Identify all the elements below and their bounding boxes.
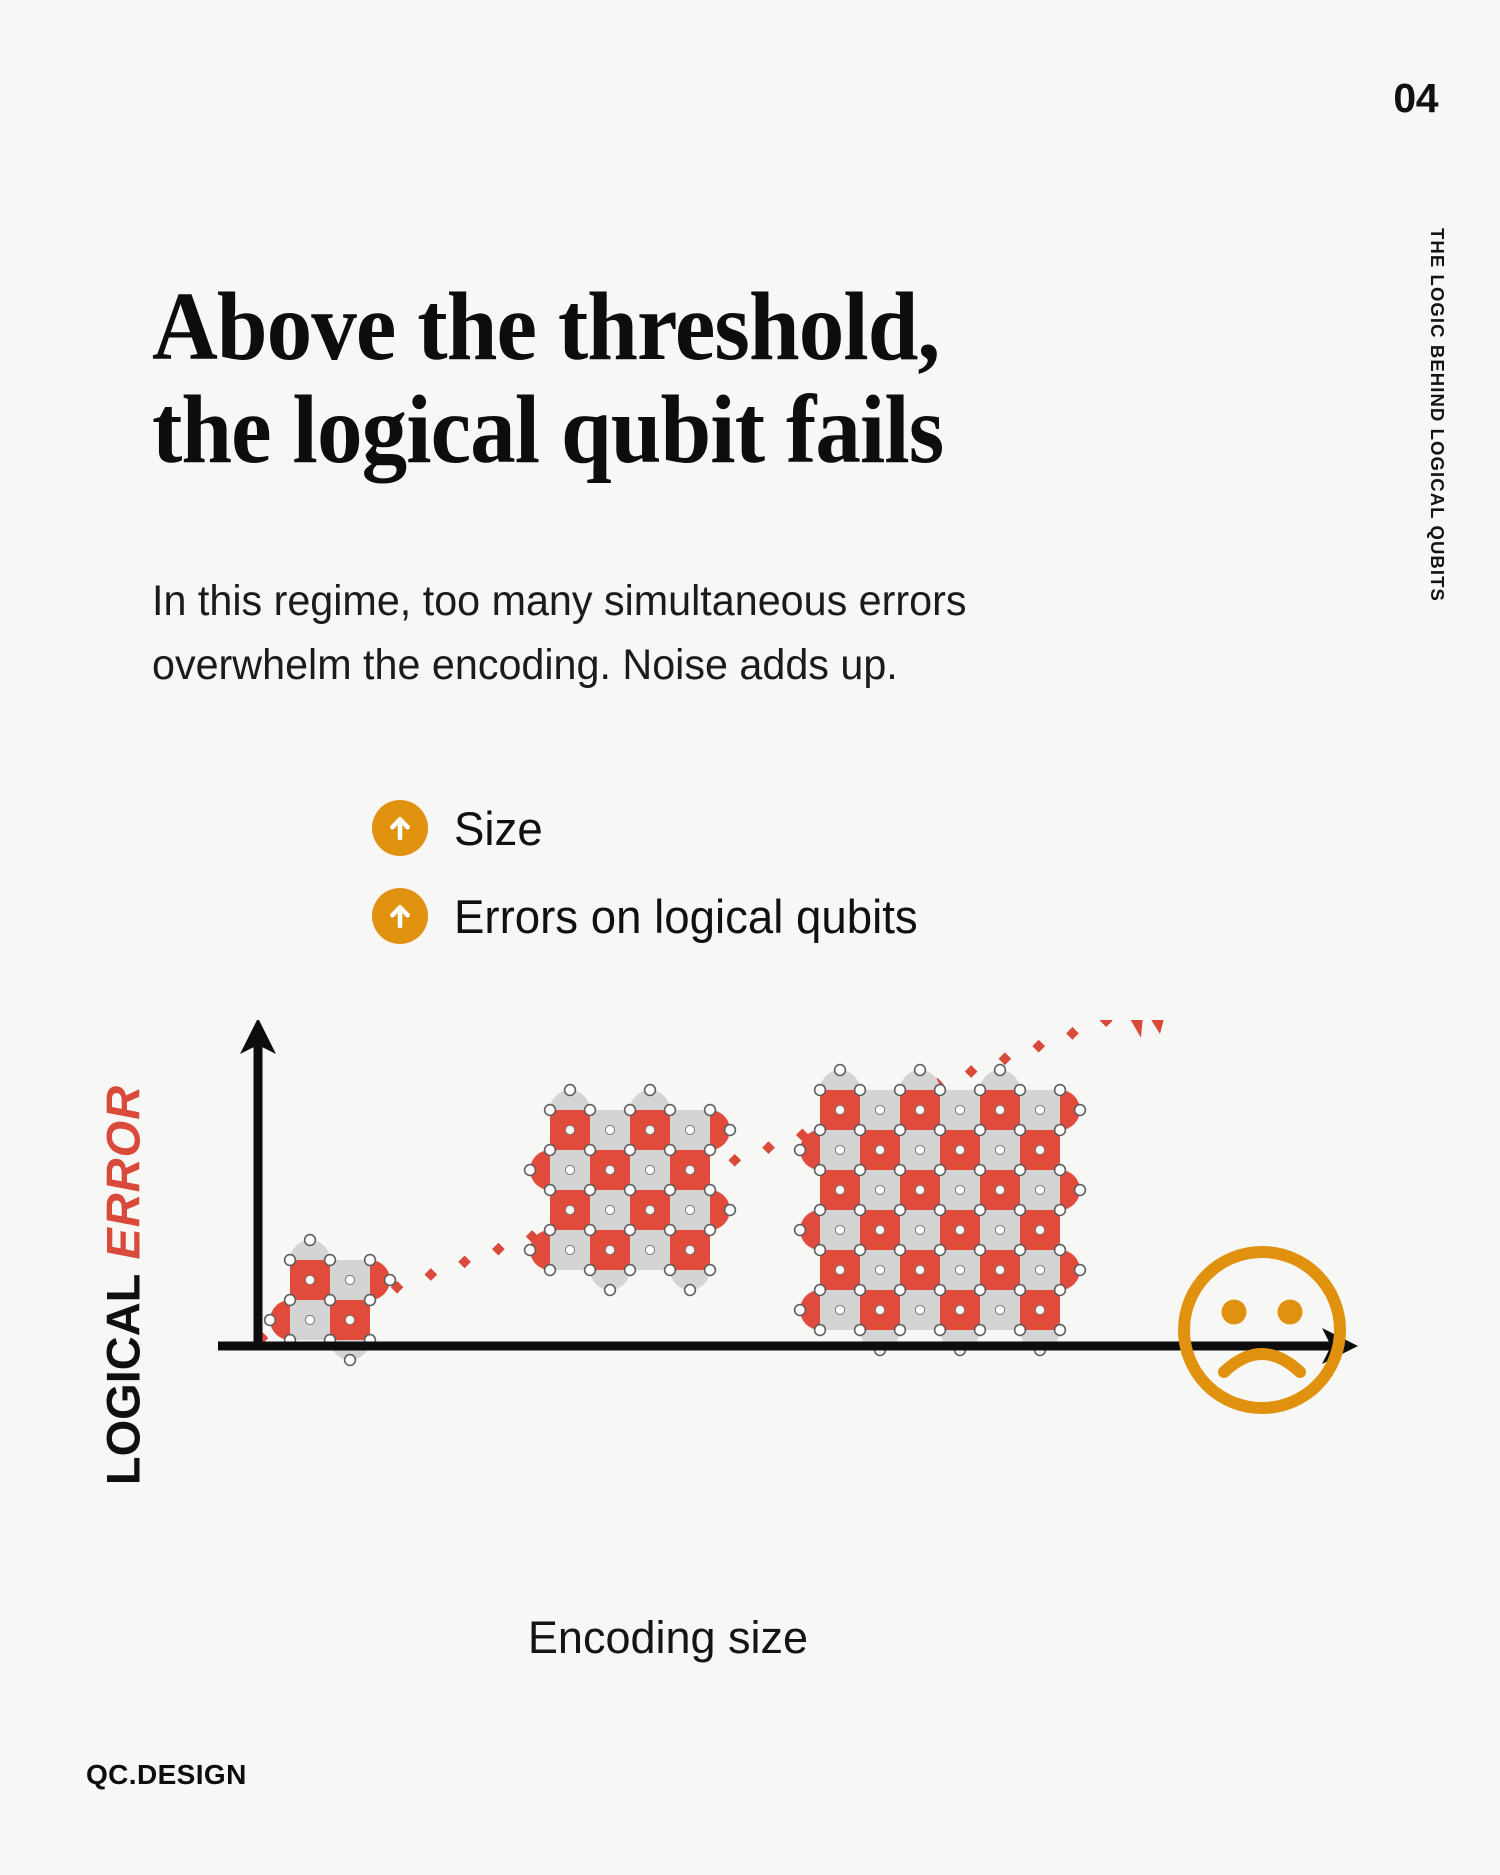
qubit-dot	[305, 1275, 314, 1284]
qubit-dot	[895, 1285, 906, 1296]
qubit-dot	[855, 1205, 866, 1216]
qubit-dot	[605, 1285, 616, 1296]
qubit-dot	[285, 1295, 296, 1306]
footer-logo: QC.DESIGN	[86, 1759, 247, 1791]
qubit-dot	[1075, 1105, 1086, 1116]
qubit-dot	[565, 1205, 574, 1214]
page-title-line-1: Above the threshold,	[152, 276, 1138, 379]
qubit-dot	[835, 1145, 844, 1154]
qubit-dot	[995, 1225, 1004, 1234]
qubit-dot	[1015, 1085, 1026, 1096]
qubit-dot	[705, 1105, 716, 1116]
qubit-dot	[815, 1125, 826, 1136]
qubit-dot	[685, 1285, 696, 1296]
qubit-dot	[545, 1145, 556, 1156]
qubit-dot	[935, 1165, 946, 1176]
qubit-dot	[975, 1205, 986, 1216]
qubit-dot	[345, 1315, 354, 1324]
arrow-up-icon	[372, 888, 428, 944]
qubit-dot	[525, 1165, 536, 1176]
qubit-dot	[935, 1205, 946, 1216]
qubit-dot	[895, 1245, 906, 1256]
qubit-dot	[895, 1165, 906, 1176]
qubit-dot	[545, 1225, 556, 1236]
qubit-dot	[1015, 1245, 1026, 1256]
qubit-dot	[975, 1125, 986, 1136]
qubit-dot	[795, 1145, 806, 1156]
qubit-dot	[855, 1165, 866, 1176]
qubit-dot	[645, 1165, 654, 1174]
trend-dash	[1066, 1027, 1079, 1040]
qubit-dot	[685, 1245, 694, 1254]
qubit-dot	[725, 1125, 736, 1136]
qubit-dot	[855, 1245, 866, 1256]
qubit-dot	[915, 1185, 924, 1194]
qubit-dot	[385, 1275, 396, 1286]
qubit-dot	[1055, 1285, 1066, 1296]
qubit-dot	[525, 1245, 536, 1256]
qubit-dot	[1075, 1185, 1086, 1196]
qubit-dot	[815, 1085, 826, 1096]
list-item-label: Size	[454, 805, 543, 852]
qubit-dot	[935, 1285, 946, 1296]
qubit-dot	[1035, 1305, 1044, 1314]
qubit-dot	[875, 1105, 884, 1114]
qubit-dot	[1035, 1105, 1044, 1114]
qubit-dot	[565, 1085, 576, 1096]
qubit-dot	[1075, 1265, 1086, 1276]
qubit-dot	[685, 1205, 694, 1214]
qubit-dot	[665, 1225, 676, 1236]
trend-dash	[965, 1065, 978, 1078]
body-paragraph-line-2: overwhelm the encoding. Noise adds up.	[152, 634, 1189, 698]
qubit-dot	[605, 1165, 614, 1174]
body-paragraph-line-1: In this regime, too many simultaneous er…	[152, 570, 1189, 634]
qubit-dot	[565, 1165, 574, 1174]
side-rail-label: THE LOGIC BEHIND LOGICAL QUBITS	[1426, 228, 1448, 602]
slide-canvas: 04 THE LOGIC BEHIND LOGICAL QUBITS Above…	[0, 0, 1500, 1875]
qubit-dot	[625, 1185, 636, 1196]
qubit-dot	[645, 1245, 654, 1254]
chart-figure	[0, 1020, 1500, 1660]
qubit-dot	[875, 1145, 884, 1154]
sad-face-icon	[1184, 1252, 1340, 1408]
trend-dash	[458, 1255, 471, 1268]
qubit-dot	[835, 1225, 844, 1234]
qubit-dot	[935, 1125, 946, 1136]
qubit-dot	[685, 1125, 694, 1134]
trend-dash	[492, 1243, 505, 1256]
page-title: Above the threshold, the logical qubit f…	[152, 276, 1138, 482]
qubit-dot	[305, 1315, 314, 1324]
qubit-dot	[895, 1325, 906, 1336]
qubit-dot	[835, 1105, 844, 1114]
qubit-dot	[545, 1185, 556, 1196]
qubit-dot	[1055, 1245, 1066, 1256]
y-axis-label-primary: LOGICAL	[100, 1274, 147, 1485]
surface-code-patch	[525, 1085, 736, 1296]
qubit-dot	[895, 1085, 906, 1096]
qubit-dot	[605, 1245, 614, 1254]
qubit-dot	[815, 1285, 826, 1296]
qubit-dot	[665, 1145, 676, 1156]
qubit-dot	[665, 1185, 676, 1196]
qubit-dot	[705, 1225, 716, 1236]
qubit-dot	[915, 1145, 924, 1154]
bullet-list: Size Errors on logical qubits	[372, 800, 1272, 976]
qubit-dot	[855, 1285, 866, 1296]
qubit-dot	[625, 1225, 636, 1236]
trend-dash	[762, 1141, 775, 1154]
qubit-dot	[585, 1105, 596, 1116]
qubit-dot	[955, 1105, 964, 1114]
qubit-dot	[325, 1295, 336, 1306]
qubit-dot	[955, 1265, 964, 1274]
qubit-dot	[875, 1185, 884, 1194]
qubit-dot	[795, 1305, 806, 1316]
qubit-dot	[935, 1245, 946, 1256]
qubit-dot	[855, 1325, 866, 1336]
qubit-dot	[625, 1265, 636, 1276]
qubit-dot	[995, 1105, 1004, 1114]
qubit-dot	[915, 1265, 924, 1274]
x-axis-label: Encoding size	[0, 1612, 1418, 1664]
qubit-dot	[795, 1225, 806, 1236]
qubit-dot	[915, 1225, 924, 1234]
list-item: Errors on logical qubits	[372, 888, 1272, 944]
qubit-dot	[815, 1165, 826, 1176]
qubit-dot	[975, 1085, 986, 1096]
qubit-dot	[1035, 1265, 1044, 1274]
qubit-dot	[1015, 1325, 1026, 1336]
qubit-dot	[645, 1125, 654, 1134]
qubit-dot	[975, 1325, 986, 1336]
qubit-dot	[265, 1315, 276, 1326]
qubit-dot	[605, 1125, 614, 1134]
qubit-dot	[1055, 1085, 1066, 1096]
qubit-dot	[1015, 1125, 1026, 1136]
qubit-dot	[1035, 1225, 1044, 1234]
list-item: Size	[372, 800, 1272, 856]
qubit-dot	[1055, 1325, 1066, 1336]
qubit-dot	[725, 1205, 736, 1216]
qubit-dot	[995, 1065, 1006, 1076]
qubit-dot	[625, 1105, 636, 1116]
qubit-dot	[365, 1295, 376, 1306]
qubit-dot	[665, 1105, 676, 1116]
qubit-dot	[955, 1305, 964, 1314]
qubit-dot	[995, 1145, 1004, 1154]
qubit-dot	[605, 1205, 614, 1214]
qubit-dot	[875, 1265, 884, 1274]
qubit-dot	[835, 1065, 846, 1076]
trend-dash	[1100, 1020, 1113, 1027]
qubit-dot	[1035, 1185, 1044, 1194]
qubit-dot	[545, 1265, 556, 1276]
trend-dash	[1032, 1040, 1045, 1053]
qubit-dot	[955, 1225, 964, 1234]
qubit-dot	[665, 1265, 676, 1276]
qubit-dot	[705, 1145, 716, 1156]
surface-code-patch	[795, 1065, 1086, 1356]
qubit-dot	[975, 1165, 986, 1176]
qubit-dot	[915, 1105, 924, 1114]
page-title-line-2: the logical qubit fails	[152, 379, 1138, 482]
body-paragraph: In this regime, too many simultaneous er…	[152, 570, 1189, 697]
qubit-dot	[935, 1325, 946, 1336]
trend-dash	[728, 1154, 741, 1167]
qubit-dot	[915, 1065, 926, 1076]
qubit-dot	[975, 1285, 986, 1296]
arrow-up-icon	[372, 800, 428, 856]
qubit-dot	[995, 1185, 1004, 1194]
y-axis	[240, 1020, 276, 1348]
qubit-dot	[815, 1325, 826, 1336]
qubit-dot	[285, 1255, 296, 1266]
qubit-dot	[975, 1245, 986, 1256]
qubit-dot	[325, 1255, 336, 1266]
qubit-dot	[955, 1145, 964, 1154]
qubit-dot	[1015, 1165, 1026, 1176]
trend-dash	[999, 1052, 1012, 1065]
qubit-dot	[585, 1265, 596, 1276]
qubit-dot	[565, 1125, 574, 1134]
qubit-dot	[545, 1105, 556, 1116]
qubit-dot	[645, 1205, 654, 1214]
qubit-dot	[585, 1145, 596, 1156]
qubit-dot	[365, 1255, 376, 1266]
qubit-dot	[855, 1125, 866, 1136]
qubit-dot	[915, 1305, 924, 1314]
qubit-dot	[705, 1185, 716, 1196]
qubit-dot	[835, 1265, 844, 1274]
qubit-dot	[685, 1165, 694, 1174]
qubit-dot	[1015, 1285, 1026, 1296]
qubit-dot	[625, 1145, 636, 1156]
qubit-dot	[705, 1265, 716, 1276]
qubit-dot	[895, 1125, 906, 1136]
trend-dash	[424, 1268, 437, 1281]
qubit-dot	[1055, 1205, 1066, 1216]
qubit-dot	[935, 1085, 946, 1096]
qubit-dot	[875, 1225, 884, 1234]
qubit-dot	[345, 1275, 354, 1284]
qubit-dot	[875, 1305, 884, 1314]
page-number: 04	[1393, 78, 1438, 119]
qubit-dot	[305, 1235, 316, 1246]
qubit-dot	[1055, 1165, 1066, 1176]
qubit-dot	[645, 1085, 656, 1096]
qubit-dot	[895, 1205, 906, 1216]
qubit-dot	[855, 1085, 866, 1096]
qubit-dot	[835, 1305, 844, 1314]
qubit-dot	[1015, 1205, 1026, 1216]
y-axis-label: LOGICAL ERROR	[58, 1120, 188, 1450]
trend-arrowhead	[1111, 1020, 1159, 1038]
qubit-dot	[955, 1185, 964, 1194]
qubit-dot	[345, 1355, 356, 1366]
qubit-dot	[995, 1265, 1004, 1274]
qubit-dot	[585, 1185, 596, 1196]
qubit-dot	[1035, 1145, 1044, 1154]
surface-code-patches	[265, 1065, 1086, 1366]
list-item-label: Errors on logical qubits	[454, 893, 918, 940]
qubit-dot	[1055, 1125, 1066, 1136]
qubit-dot	[565, 1245, 574, 1254]
qubit-dot	[815, 1205, 826, 1216]
qubit-dot	[585, 1225, 596, 1236]
side-rail: THE LOGIC BEHIND LOGICAL QUBITS	[1420, 228, 1454, 698]
y-axis-label-accent: ERROR	[100, 1085, 147, 1260]
qubit-dot	[815, 1245, 826, 1256]
qubit-dot	[995, 1305, 1004, 1314]
qubit-dot	[835, 1185, 844, 1194]
